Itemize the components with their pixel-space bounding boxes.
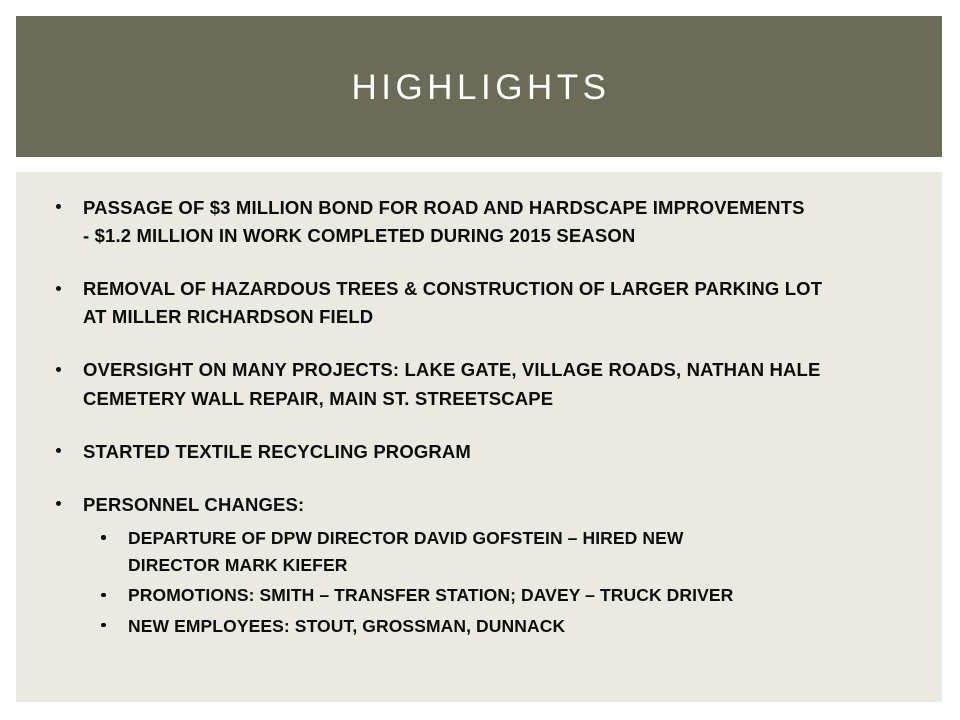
presentation-slide: HIGHLIGHTS PASSAGE OF $3 MILLION BOND FO… (0, 0, 960, 720)
slide-title-band: HIGHLIGHTS (16, 16, 942, 157)
sub-bullet-dot-icon (101, 623, 106, 628)
sub-bullet-dot-icon (101, 535, 106, 540)
sub-bullet-text-line-1: PROMOTIONS: SMITH – TRANSFER STATION; DA… (128, 582, 924, 609)
sub-list-item: NEW EMPLOYEES: STOUT, GROSSMAN, DUNNACK (83, 613, 924, 640)
sub-list-item: DEPARTURE OF DPW DIRECTOR DAVID GOFSTEIN… (83, 525, 924, 580)
bullet-text-line-1: PERSONNEL CHANGES: (83, 491, 924, 519)
bullet-text-line-1: OVERSIGHT ON MANY PROJECTS: LAKE GATE, V… (83, 356, 924, 384)
slide-title: HIGHLIGHTS (348, 70, 611, 105)
list-item: STARTED TEXTILE RECYCLING PROGRAM (42, 438, 924, 466)
sub-bullet-text-line-1: DEPARTURE OF DPW DIRECTOR DAVID GOFSTEIN… (128, 525, 924, 552)
bullet-text-line-2: CEMETERY WALL REPAIR, MAIN ST. STREETSCA… (83, 385, 924, 413)
bullet-dot-icon (56, 204, 61, 209)
list-item: PERSONNEL CHANGES: DEPARTURE OF DPW DIRE… (42, 491, 924, 640)
bullet-dot-icon (56, 367, 61, 372)
bullet-text-line-1: REMOVAL OF HAZARDOUS TREES & CONSTRUCTIO… (83, 275, 924, 303)
list-item: OVERSIGHT ON MANY PROJECTS: LAKE GATE, V… (42, 356, 924, 412)
sub-bullet-list: DEPARTURE OF DPW DIRECTOR DAVID GOFSTEIN… (83, 525, 924, 640)
sub-bullet-text-line-1: NEW EMPLOYEES: STOUT, GROSSMAN, DUNNACK (128, 613, 924, 640)
list-item: PASSAGE OF $3 MILLION BOND FOR ROAD AND … (42, 194, 924, 250)
bullet-text-line-1: STARTED TEXTILE RECYCLING PROGRAM (83, 438, 924, 466)
bullet-dot-icon (56, 286, 61, 291)
bullet-dot-icon (56, 501, 61, 506)
bullet-text-line-2: - $1.2 MILLION IN WORK COMPLETED DURING … (83, 222, 924, 250)
bullet-text-line-2: AT MILLER RICHARDSON FIELD (83, 303, 924, 331)
bullet-text-line-1: PASSAGE OF $3 MILLION BOND FOR ROAD AND … (83, 194, 924, 222)
slide-body-panel: PASSAGE OF $3 MILLION BOND FOR ROAD AND … (16, 172, 942, 702)
list-item: REMOVAL OF HAZARDOUS TREES & CONSTRUCTIO… (42, 275, 924, 331)
sub-bullet-dot-icon (101, 593, 106, 598)
sub-bullet-text-line-2: DIRECTOR MARK KIEFER (128, 552, 924, 579)
bullet-dot-icon (56, 448, 61, 453)
sub-list-item: PROMOTIONS: SMITH – TRANSFER STATION; DA… (83, 582, 924, 609)
bullet-list: PASSAGE OF $3 MILLION BOND FOR ROAD AND … (42, 194, 924, 640)
